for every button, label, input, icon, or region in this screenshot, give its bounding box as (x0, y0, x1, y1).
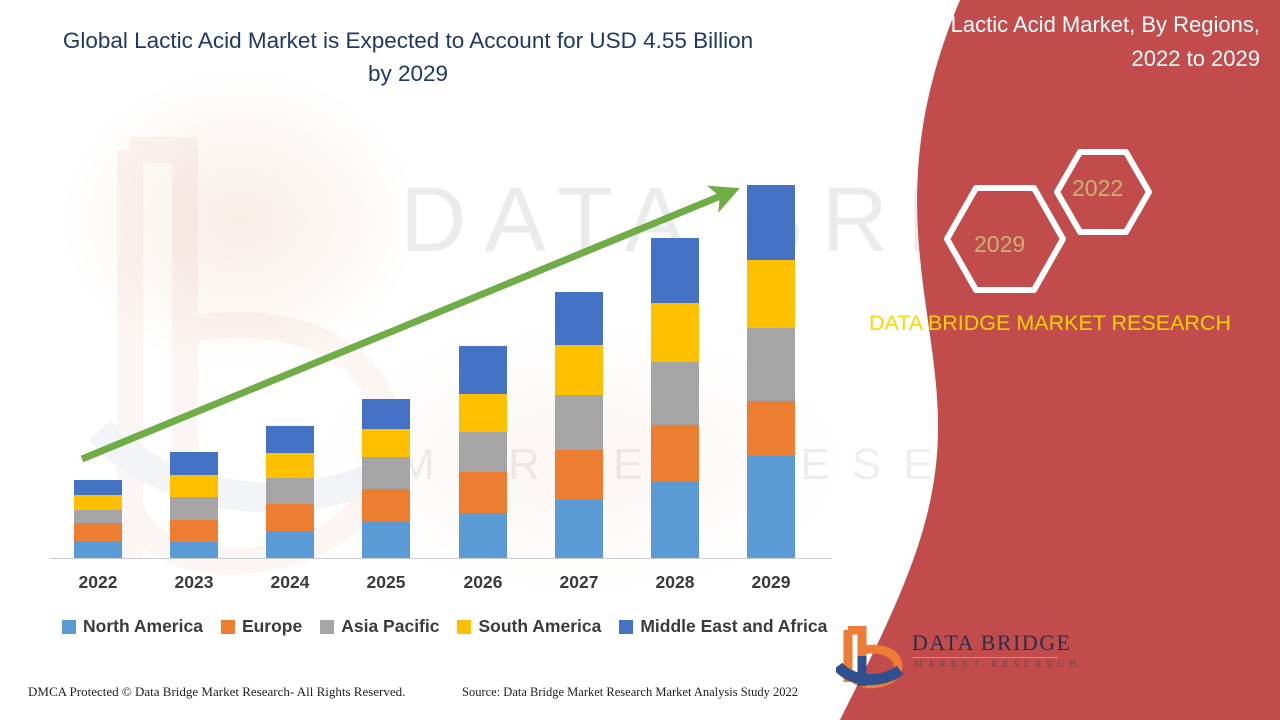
bar-segment (555, 395, 603, 450)
bar-column (747, 185, 795, 559)
bar-column (459, 346, 507, 559)
legend-swatch-icon (221, 620, 235, 634)
bar-segment (747, 185, 795, 260)
bar-segment (362, 457, 410, 489)
brand-name: DATA BRIDGE MARKET RESEARCH (860, 308, 1240, 339)
bar-segment (747, 401, 795, 456)
legend-label: Europe (242, 616, 302, 637)
x-axis-label: 2025 (351, 572, 421, 593)
legend-label: Middle East and Africa (640, 616, 827, 637)
legend-swatch-icon (457, 620, 471, 634)
hexagon-label-2022: 2022 (1072, 175, 1123, 202)
legend-item: Middle East and Africa (619, 616, 827, 637)
logo-tagline: MARKET RESEARCH (914, 660, 1081, 670)
legend-item: Europe (221, 616, 302, 637)
x-axis-label: 2026 (448, 572, 518, 593)
legend-item: Asia Pacific (320, 616, 439, 637)
x-axis-labels: 20222023202420252026202720282029 (0, 572, 860, 600)
x-axis-label: 2022 (63, 572, 133, 593)
bar-segment (459, 394, 507, 432)
bar-segment (459, 346, 507, 394)
bar-segment (651, 482, 699, 559)
bar-segment (170, 475, 218, 497)
chart-baseline (50, 558, 832, 559)
bar-segment (651, 362, 699, 425)
bar-segment (266, 531, 314, 559)
x-axis-label: 2028 (640, 572, 710, 593)
footer-source: Source: Data Bridge Market Research Mark… (462, 685, 798, 700)
logo-wordmark: DATA BRIDGE (912, 630, 1072, 656)
bar-segment (74, 495, 122, 510)
bar-segment (651, 238, 699, 303)
legend-item: South America (457, 616, 601, 637)
bar-segment (266, 453, 314, 478)
bar-segment (170, 452, 218, 475)
stacked-bars-group (0, 0, 860, 559)
x-axis-label: 2023 (159, 572, 229, 593)
legend-label: North America (83, 616, 203, 637)
chart-plot-area: 20222023202420252026202720282029 (0, 0, 860, 600)
legend-item: North America (62, 616, 203, 637)
bar-column (362, 399, 410, 559)
bar-segment (555, 500, 603, 559)
bar-segment (170, 497, 218, 520)
bar-column (555, 292, 603, 559)
bar-column (651, 238, 699, 559)
bar-segment (362, 429, 410, 457)
right-brand-panel: Global Lactic Acid Market, By Regions, 2… (820, 0, 1280, 720)
bar-segment (555, 345, 603, 395)
footer-copyright: DMCA Protected © Data Bridge Market Rese… (28, 684, 405, 700)
bar-segment (74, 480, 122, 495)
bar-segment (555, 450, 603, 500)
bar-column (170, 452, 218, 559)
legend-label: South America (478, 616, 601, 637)
company-logo: DATA BRIDGE MARKET RESEARCH (836, 624, 1066, 692)
panel-title: Global Lactic Acid Market, By Regions, 2… (880, 8, 1260, 76)
bar-segment (266, 478, 314, 504)
logo-mark-icon (836, 626, 906, 690)
chart-legend: North AmericaEuropeAsia PacificSouth Ame… (62, 616, 827, 637)
bar-column (266, 426, 314, 559)
bar-segment (74, 523, 122, 541)
bar-segment (651, 425, 699, 482)
red-panel-shape (820, 0, 1280, 720)
legend-label: Asia Pacific (341, 616, 439, 637)
bar-segment (459, 513, 507, 559)
legend-swatch-icon (62, 620, 76, 634)
bar-segment (266, 426, 314, 453)
legend-swatch-icon (320, 620, 334, 634)
bar-segment (170, 520, 218, 542)
infographic-canvas: DATA BRIDGE MARKET RESEARCH Global Lacti… (0, 0, 1280, 720)
x-axis-label: 2027 (544, 572, 614, 593)
bar-segment (362, 522, 410, 559)
bar-segment (459, 432, 507, 472)
bar-segment (747, 328, 795, 401)
hexagon-label-2029: 2029 (974, 231, 1025, 258)
bar-segment (74, 541, 122, 559)
x-axis-label: 2024 (255, 572, 325, 593)
hexagon-badges: 2022 2029 (930, 140, 1170, 300)
bar-segment (651, 303, 699, 362)
bar-segment (266, 504, 314, 531)
bar-segment (459, 472, 507, 513)
bar-segment (747, 456, 795, 559)
bar-segment (555, 292, 603, 345)
bar-segment (362, 399, 410, 429)
bar-segment (747, 260, 795, 328)
x-axis-label: 2029 (736, 572, 806, 593)
bar-segment (362, 489, 410, 522)
bar-segment (74, 510, 122, 523)
bar-column (74, 480, 122, 559)
logo-divider (912, 657, 1058, 658)
legend-swatch-icon (619, 620, 633, 634)
hexagon-outlines-icon (930, 140, 1170, 300)
bar-segment (170, 542, 218, 559)
